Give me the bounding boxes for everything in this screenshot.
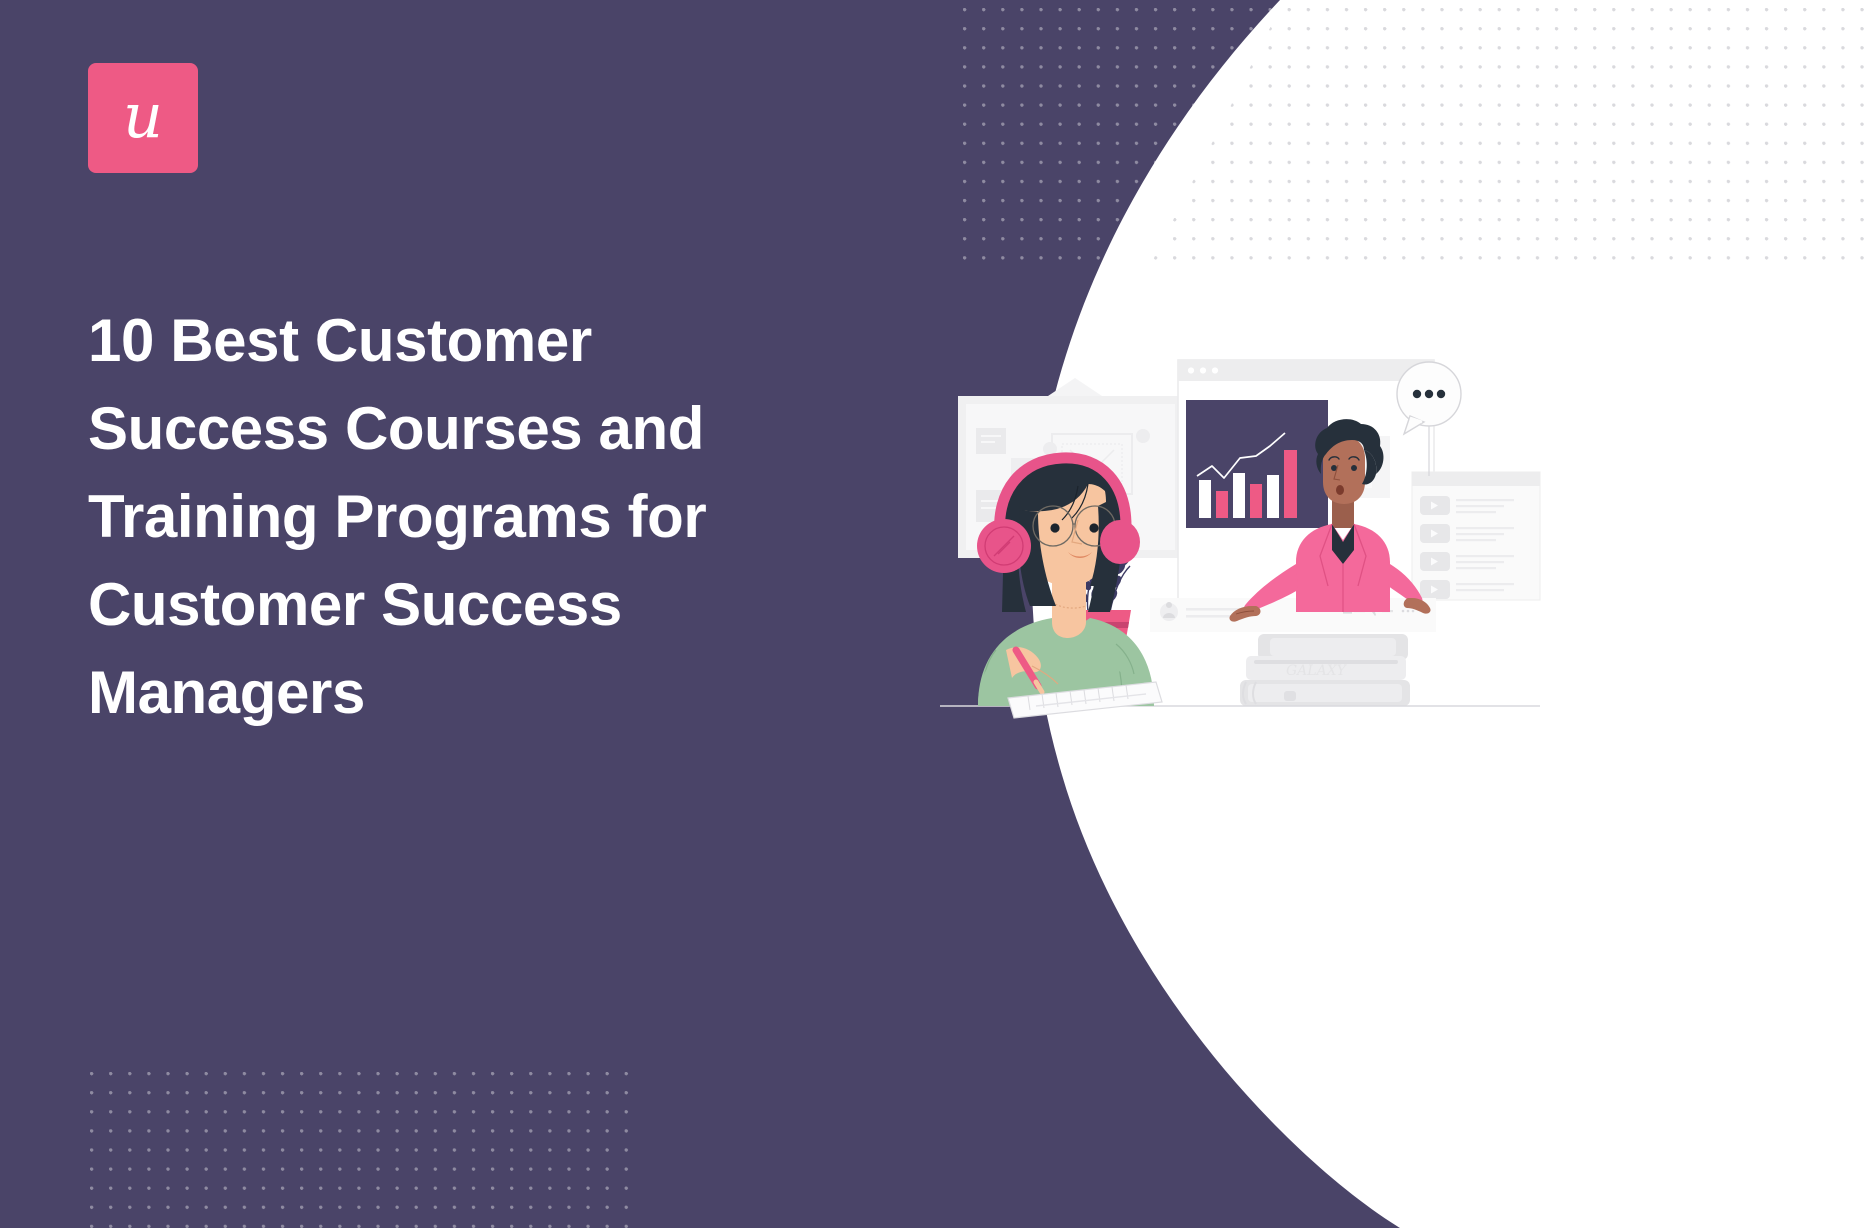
bubble-dot [1437, 390, 1445, 398]
hero-banner: u 10 Best Customer Success Courses and T… [0, 0, 1876, 1228]
video-playlist-panel [1412, 472, 1540, 600]
bubble-dot [1413, 390, 1421, 398]
bar-chart [1186, 400, 1328, 528]
bar [1250, 484, 1262, 518]
more-icon [1402, 610, 1415, 613]
userpilot-logo[interactable]: u [88, 63, 198, 173]
video-meta-bar [1150, 598, 1436, 632]
page-title: 10 Best Customer Success Courses and Tra… [88, 297, 848, 737]
book-stack: GALAXY [1240, 634, 1410, 706]
bubble-dot [1425, 390, 1433, 398]
book-spine-label: GALAXY [1286, 663, 1348, 679]
logo-glyph: u [123, 85, 163, 147]
bar [1233, 473, 1245, 518]
bar [1199, 480, 1211, 518]
window-dot [1200, 367, 1206, 373]
window-dot [1212, 367, 1218, 373]
online-course-illustration: GALAXY [940, 350, 1540, 770]
bar [1284, 450, 1297, 518]
window-dot [1188, 367, 1194, 373]
bar [1267, 475, 1279, 518]
bar [1216, 491, 1228, 518]
